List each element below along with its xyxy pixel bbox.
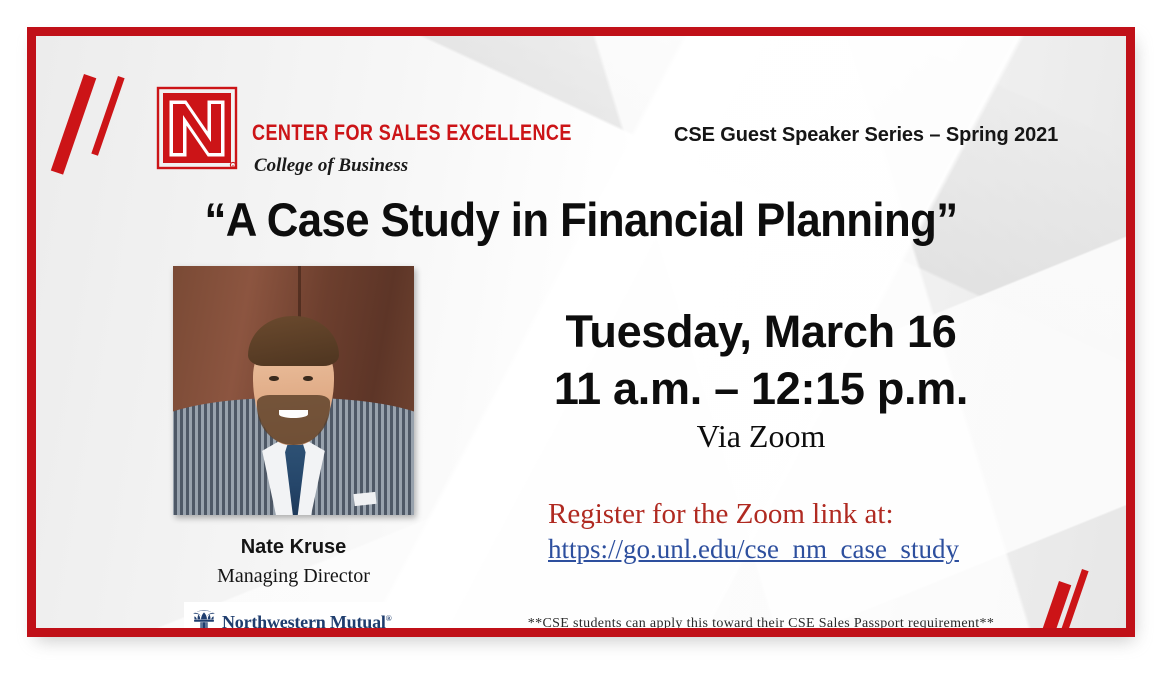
brand-wordmark: CENTER FOR SALES EXCELLENCE College of B…	[252, 86, 642, 177]
northwestern-mutual-logo: Northwestern Mutual®	[184, 602, 402, 637]
nebraska-n-logo-icon: R	[156, 86, 238, 172]
series-label: CSE Guest Speaker Series – Spring 2021	[674, 124, 1058, 147]
brand-logo-lockup: R CENTER FOR SALES EXCELLENCE College of…	[156, 86, 642, 177]
speaker-name-label: Nate Kruse	[173, 536, 414, 559]
poster-stage: R CENTER FOR SALES EXCELLENCE College of…	[0, 0, 1163, 695]
poster-frame: R CENTER FOR SALES EXCELLENCE College of…	[27, 27, 1135, 637]
event-date-label: Tuesday, March 16	[466, 306, 1056, 358]
northwestern-mutual-column-icon	[190, 609, 218, 635]
event-platform-label: Via Zoom	[466, 418, 1056, 455]
speaker-job-title-label: Managing Director	[173, 565, 414, 588]
speaker-headshot-photo	[173, 266, 414, 515]
center-name-label: CENTER FOR SALES EXCELLENCE	[252, 120, 572, 146]
event-time-label: 11 a.m. – 12:15 p.m.	[466, 363, 1056, 415]
college-name-label: College of Business	[254, 155, 642, 177]
registered-trademark-icon: ®	[386, 614, 392, 623]
page-title: “A Case Study in Financial Planning”	[74, 192, 1088, 247]
company-name-label: Northwestern Mutual	[222, 612, 386, 632]
register-prompt-label: Register for the Zoom link at:	[548, 498, 894, 531]
passport-footnote: **CSE students can apply this toward the…	[466, 616, 1056, 632]
registration-link[interactable]: https://go.unl.edu/cse_nm_case_study	[548, 534, 959, 565]
northwestern-mutual-wordmark: Northwestern Mutual®	[222, 612, 391, 633]
